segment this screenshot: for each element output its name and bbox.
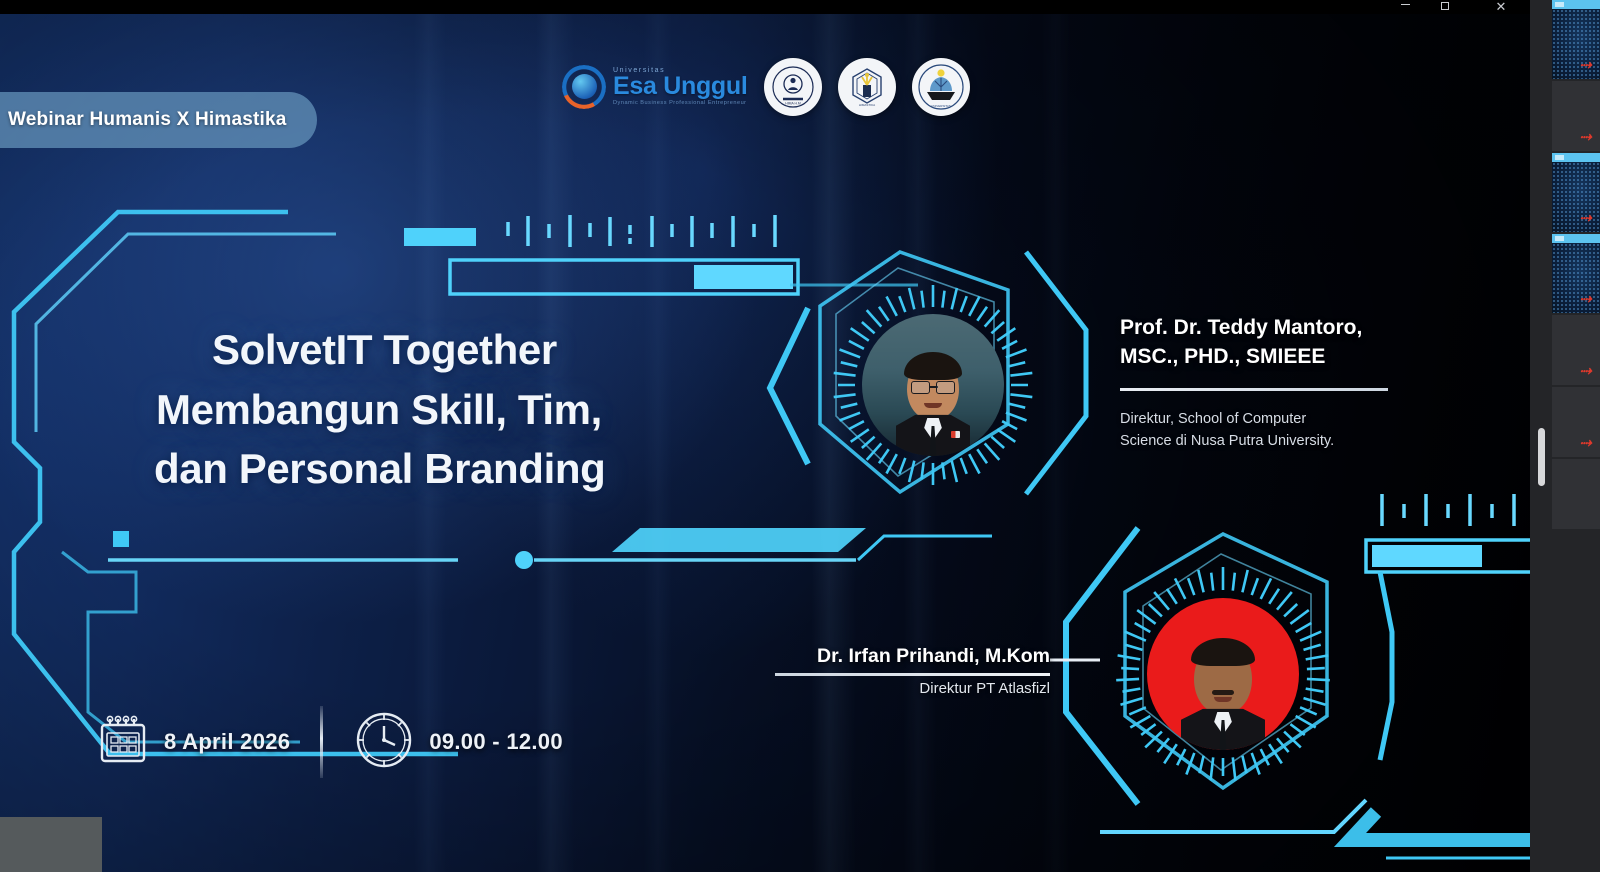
- thumbnail-item[interactable]: [1552, 459, 1600, 529]
- svg-text:HIMASTIKA: HIMASTIKA: [858, 103, 874, 107]
- thumbnail-panel[interactable]: ⤑⤑⤑⤑⤑⤑: [1530, 0, 1600, 872]
- pdf-icon: ⤑: [1577, 363, 1596, 380]
- close-button[interactable]: ✕: [1484, 0, 1518, 14]
- svg-text:HIMA H.M: HIMA H.M: [785, 102, 801, 106]
- speaker-1-photo: [862, 314, 1004, 456]
- title-line-2: Membangun Skill, Tim,: [150, 380, 770, 440]
- minimize-button[interactable]: [1388, 0, 1422, 14]
- thumbnail-header-bar: [1552, 0, 1600, 9]
- thumbnail-item[interactable]: ⤑: [1552, 234, 1600, 313]
- meta-divider: [320, 706, 323, 778]
- humanis-logo-icon: HIMA H.M: [764, 58, 822, 116]
- thumbnail-preview: [1552, 459, 1600, 529]
- slide-meta: 8 April 2026: [96, 706, 563, 778]
- presentation-slide[interactable]: Webinar Humanis X Himastika Universitas …: [0, 12, 1530, 872]
- thumbnail-item[interactable]: ⤑: [1552, 153, 1600, 232]
- pdf-icon: ⤑: [1577, 435, 1596, 452]
- thumbnail-item[interactable]: ⤑: [1552, 0, 1600, 79]
- speaker-2-role: Direktur PT Atlasfizl: [775, 680, 1050, 697]
- speaker-1-role-line2: Science di Nusa Putra University.: [1120, 431, 1510, 453]
- logo-row: Universitas Esa Unggul Dynamic Business …: [562, 58, 970, 116]
- thumbnail-preview: ⤑: [1552, 243, 1600, 313]
- institution-logo-icon: UNIVERSITAS: [912, 58, 970, 116]
- thumbnail-preview: ⤑: [1552, 162, 1600, 232]
- meta-date: 8 April 2026: [96, 713, 290, 772]
- speaker-1-portrait: [780, 244, 1080, 524]
- title-line-3: dan Personal Branding: [150, 439, 770, 499]
- thumbnail-item[interactable]: ⤑: [1552, 81, 1600, 151]
- thumbnail-header-bar: [1552, 234, 1600, 243]
- thumbnail-preview: ⤑: [1552, 315, 1600, 385]
- calendar-icon: [96, 713, 150, 772]
- meta-time-text: 09.00 - 12.00: [429, 729, 563, 755]
- speaker-2-name: Dr. Irfan Prihandi, M.Kom: [775, 644, 1050, 668]
- app-root: ✕: [0, 0, 1600, 872]
- clock-icon: [353, 709, 415, 776]
- speaker-2-photo: [1147, 598, 1299, 750]
- speaker-1-divider: [1120, 388, 1388, 391]
- window-titlebar: ✕: [0, 0, 1530, 14]
- title-line-1: SolvetIT Together: [150, 320, 770, 380]
- meta-date-text: 8 April 2026: [164, 729, 290, 755]
- speaker-2-info: Dr. Irfan Prihandi, M.Kom Direktur PT At…: [775, 644, 1050, 697]
- thumbnail-preview: ⤑: [1552, 387, 1600, 457]
- thumbnail-preview: ⤑: [1552, 81, 1600, 151]
- logo-large-text: Esa Unggul: [613, 74, 748, 99]
- vertical-scrollbar-thumb[interactable]: [1538, 428, 1545, 486]
- thumbnail-item[interactable]: ⤑: [1552, 315, 1600, 385]
- thumbnail-item[interactable]: ⤑: [1552, 387, 1600, 457]
- svg-text:UNIVERSITAS: UNIVERSITAS: [931, 104, 951, 108]
- slide-title: SolvetIT Together Membangun Skill, Tim, …: [150, 320, 770, 499]
- esa-unggul-mark-icon: [562, 65, 606, 109]
- esa-unggul-logo: Universitas Esa Unggul Dynamic Business …: [562, 65, 748, 109]
- himastika-logo-icon: HIMASTIKA: [838, 58, 896, 116]
- meta-time: 09.00 - 12.00: [353, 709, 563, 776]
- speaker-1-name-line1: Prof. Dr. Teddy Mantoro,: [1120, 314, 1510, 343]
- speaker-1-info: Prof. Dr. Teddy Mantoro, MSC., PHD., SMI…: [1120, 314, 1510, 452]
- speaker-2-divider: [775, 673, 1050, 676]
- bottom-left-overlay-patch: [0, 817, 102, 872]
- thumbnail-preview: ⤑: [1552, 9, 1600, 79]
- speaker-2-portrait: [1055, 520, 1400, 820]
- thumbnail-header-bar: [1552, 153, 1600, 162]
- pdf-icon: ⤑: [1577, 129, 1596, 146]
- logo-tagline: Dynamic Business Professional Entreprene…: [613, 101, 748, 107]
- webinar-badge: Webinar Humanis X Himastika: [0, 92, 317, 148]
- speaker-1-name-line2: MSC., PHD., SMIEEE: [1120, 343, 1510, 372]
- maximize-button[interactable]: [1428, 0, 1462, 14]
- thumbnail-list[interactable]: ⤑⤑⤑⤑⤑⤑: [1552, 0, 1600, 531]
- speaker-1-role-line1: Direktur, School of Computer: [1120, 409, 1510, 431]
